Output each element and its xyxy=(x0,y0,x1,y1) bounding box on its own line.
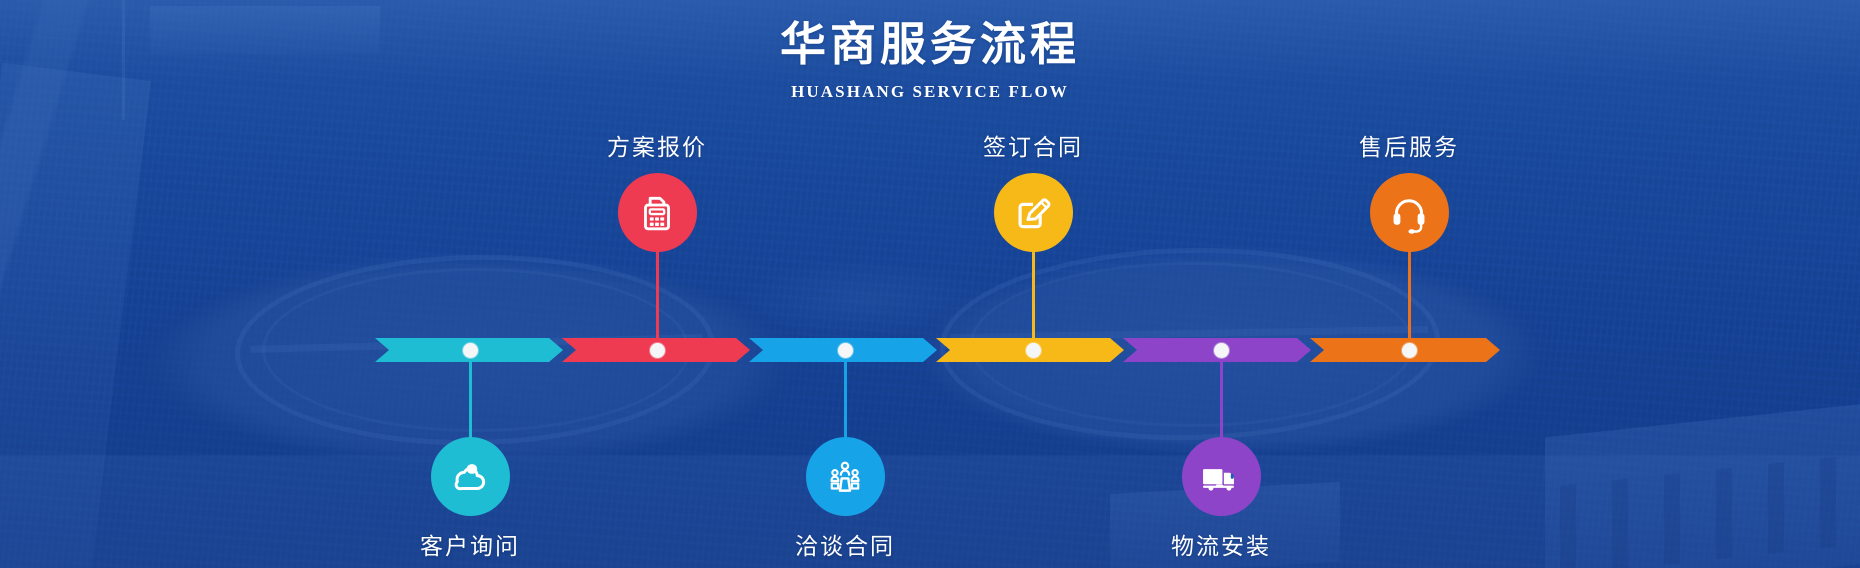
flow-node-dot-6 xyxy=(1402,343,1417,358)
flow-step-circle-6[interactable] xyxy=(1370,173,1449,252)
flow-node-dot-1 xyxy=(463,343,478,358)
flow-step-label-5: 物流安装 xyxy=(1171,527,1271,561)
flow-step-label-2: 方案报价 xyxy=(607,128,707,162)
flow-step-label-6: 售后服务 xyxy=(1359,128,1459,162)
page-subtitle: HUASHANG SERVICE FLOW xyxy=(0,82,1860,102)
flow-connector-6 xyxy=(1408,243,1411,350)
headset-support-icon xyxy=(1386,190,1432,236)
flow-step-label-3: 洽谈合同 xyxy=(795,527,895,561)
flow-step-circle-5[interactable] xyxy=(1182,437,1261,516)
flow-connector-1 xyxy=(469,350,472,446)
flow-connector-4 xyxy=(1032,243,1035,350)
pen-signing-icon xyxy=(1010,190,1056,236)
flow-step-label-4: 签订合同 xyxy=(983,128,1083,162)
flow-step-circle-1[interactable] xyxy=(431,437,510,516)
page-header: 华商服务流程 HUASHANG SERVICE FLOW xyxy=(0,16,1860,102)
negotiation-table-icon xyxy=(822,454,868,500)
flow-step-circle-4[interactable] xyxy=(994,173,1073,252)
flow-arrow-bar xyxy=(375,338,1500,362)
calculator-quote-icon xyxy=(634,190,680,236)
flow-node-dot-2 xyxy=(650,343,665,358)
flow-step-circle-3[interactable] xyxy=(806,437,885,516)
page-title: 华商服务流程 xyxy=(0,16,1860,72)
delivery-truck-icon xyxy=(1198,454,1244,500)
flow-step-label-1: 客户询问 xyxy=(420,527,520,561)
flow-connector-2 xyxy=(656,243,659,350)
cloud-inquiry-icon xyxy=(447,454,493,500)
flow-node-dot-5 xyxy=(1214,343,1229,358)
flow-connector-3 xyxy=(844,350,847,446)
flow-connector-5 xyxy=(1220,350,1223,446)
flow-node-dot-4 xyxy=(1026,343,1041,358)
flow-node-dot-3 xyxy=(838,343,853,358)
flow-step-circle-2[interactable] xyxy=(618,173,697,252)
